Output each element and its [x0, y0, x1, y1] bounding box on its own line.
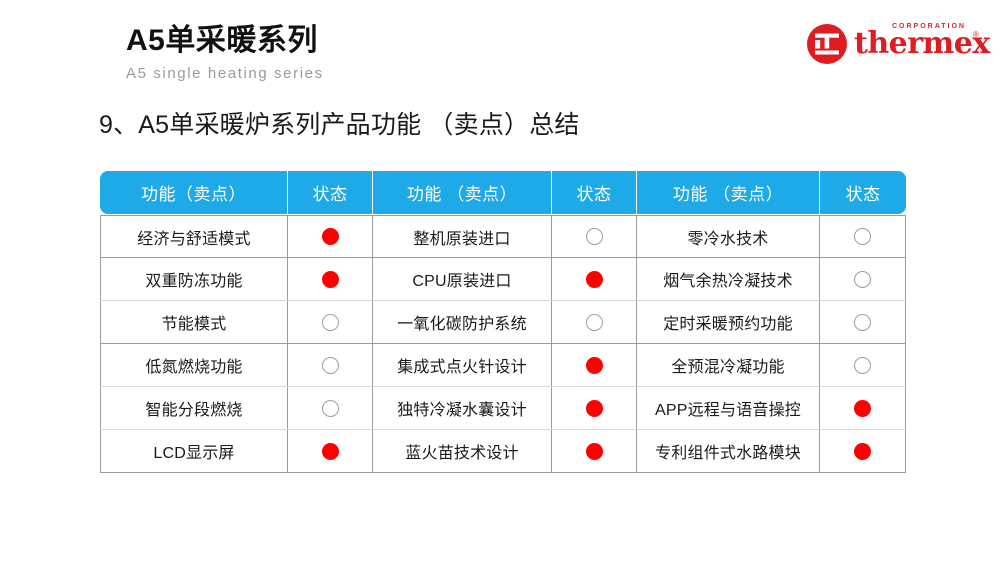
header-cell-status-2: 状态	[552, 171, 637, 214]
page-subtitle: A5 single heating series	[126, 65, 324, 82]
status-filled-dot-icon	[322, 443, 339, 460]
table-body: 经济与舒适模式整机原装进口零冷水技术双重防冻功能CPU原装进口烟气余热冷凝技术节…	[100, 215, 906, 473]
status-cell	[552, 387, 637, 429]
thermex-circle-emblem-icon	[806, 23, 848, 65]
status-filled-dot-icon	[586, 357, 603, 374]
feature-cell: LCD显示屏	[100, 430, 288, 472]
table-row: 低氮燃烧功能集成式点火针设计全预混冷凝功能	[100, 344, 906, 387]
status-filled-dot-icon	[586, 271, 603, 288]
status-hollow-circle-icon	[322, 314, 339, 331]
status-hollow-circle-icon	[854, 228, 871, 245]
header-cell-status-1: 状态	[288, 171, 373, 214]
status-cell	[552, 216, 637, 257]
status-cell	[820, 216, 906, 257]
feature-cell: 节能模式	[100, 301, 288, 343]
status-cell	[288, 301, 373, 343]
feature-cell: 低氮燃烧功能	[100, 344, 288, 386]
status-cell	[552, 301, 637, 343]
status-hollow-circle-icon	[322, 400, 339, 417]
status-filled-dot-icon	[854, 443, 871, 460]
feature-cell: 蓝火苗技术设计	[373, 430, 552, 472]
status-cell	[288, 216, 373, 257]
logo-registered-mark: ®	[973, 30, 979, 39]
feature-cell: 烟气余热冷凝技术	[637, 258, 820, 300]
header-cell-feature-3: 功能 （卖点）	[637, 171, 820, 214]
feature-cell: 智能分段燃烧	[100, 387, 288, 429]
slide-header: A5单采暖系列 A5 single heating series CORPORA…	[0, 0, 1000, 100]
status-cell	[820, 344, 906, 386]
table-header-row: 功能（卖点） 状态 功能 （卖点） 状态 功能 （卖点） 状态	[100, 171, 906, 214]
feature-cell: APP远程与语音操控	[637, 387, 820, 429]
status-filled-dot-icon	[322, 271, 339, 288]
feature-cell: 全预混冷凝功能	[637, 344, 820, 386]
feature-cell: 一氧化碳防护系统	[373, 301, 552, 343]
status-cell	[820, 301, 906, 343]
status-cell	[552, 344, 637, 386]
header-cell-status-3: 状态	[820, 171, 906, 214]
status-cell	[288, 344, 373, 386]
status-hollow-circle-icon	[854, 314, 871, 331]
feature-cell: 经济与舒适模式	[100, 216, 288, 257]
status-hollow-circle-icon	[854, 271, 871, 288]
logo-wordmark-group: CORPORATION thermex ®	[854, 23, 982, 65]
feature-cell: 定时采暖预约功能	[637, 301, 820, 343]
section-heading: 9、A5单采暖炉系列产品功能 （卖点）总结	[99, 105, 580, 141]
status-filled-dot-icon	[586, 443, 603, 460]
table-row: 经济与舒适模式整机原装进口零冷水技术	[100, 215, 906, 258]
status-cell	[288, 387, 373, 429]
title-group: A5单采暖系列 A5 single heating series	[126, 24, 324, 82]
table-row: LCD显示屏蓝火苗技术设计专利组件式水路模块	[100, 430, 906, 473]
status-hollow-circle-icon	[586, 228, 603, 245]
status-filled-dot-icon	[322, 228, 339, 245]
status-cell	[820, 387, 906, 429]
header-cell-feature-1: 功能（卖点）	[100, 171, 288, 214]
table-row: 双重防冻功能CPU原装进口烟气余热冷凝技术	[100, 258, 906, 301]
header-cell-feature-2: 功能 （卖点）	[373, 171, 552, 214]
status-cell	[552, 258, 637, 300]
status-hollow-circle-icon	[854, 357, 871, 374]
feature-cell: 整机原装进口	[373, 216, 552, 257]
status-filled-dot-icon	[854, 400, 871, 417]
feature-cell: 专利组件式水路模块	[637, 430, 820, 472]
status-cell	[552, 430, 637, 472]
status-cell	[820, 258, 906, 300]
brand-logo: CORPORATION thermex ®	[806, 21, 982, 67]
logo-wordmark-label: thermex	[854, 29, 990, 59]
status-filled-dot-icon	[586, 400, 603, 417]
status-cell	[288, 258, 373, 300]
feature-cell: 双重防冻功能	[100, 258, 288, 300]
feature-cell: 零冷水技术	[637, 216, 820, 257]
feature-cell: CPU原装进口	[373, 258, 552, 300]
feature-summary-table: 功能（卖点） 状态 功能 （卖点） 状态 功能 （卖点） 状态 经济与舒适模式整…	[100, 171, 906, 473]
status-hollow-circle-icon	[322, 357, 339, 374]
status-hollow-circle-icon	[586, 314, 603, 331]
status-cell	[820, 430, 906, 472]
table-row: 节能模式一氧化碳防护系统定时采暖预约功能	[100, 301, 906, 344]
feature-cell: 集成式点火针设计	[373, 344, 552, 386]
feature-cell: 独特冷凝水囊设计	[373, 387, 552, 429]
page-title: A5单采暖系列	[126, 24, 324, 59]
table-row: 智能分段燃烧独特冷凝水囊设计APP远程与语音操控	[100, 387, 906, 430]
status-cell	[288, 430, 373, 472]
